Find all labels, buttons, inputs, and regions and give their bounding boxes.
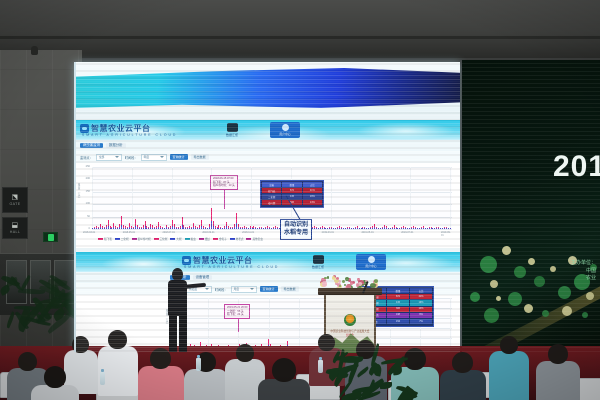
- chevron-down-icon: [250, 288, 254, 290]
- flower: [327, 276, 330, 279]
- chart-tooltip: 2018-06-15 07:00稻飞虱：87 头稻纵卷叶螟：13 头: [210, 175, 238, 190]
- cloud-glyph-icon: [313, 255, 324, 264]
- chart-data-spike: [351, 228, 352, 229]
- flower: [342, 280, 345, 283]
- chart-legend-upper: 稻飞虱二化螟稻纵卷叶螟三化螟大螟黏虫蝼蛄金龟子地老虎其他害虫: [98, 237, 428, 241]
- gridline-vertical: [331, 167, 332, 229]
- legend-item[interactable]: 蝼蛄: [199, 237, 210, 241]
- chart-data-spike: [359, 228, 360, 229]
- filter-label-period-lower: 时间段：: [215, 287, 228, 292]
- plant-leaf: [392, 367, 402, 375]
- chart-data-spike: [339, 228, 340, 229]
- chart-data-spike: [386, 228, 387, 229]
- gridline-vertical: [208, 298, 209, 348]
- filter-label-period-upper: 时间段：: [125, 155, 138, 160]
- chart-data-spike: [327, 228, 328, 229]
- chart-data-spike: [152, 228, 153, 229]
- chart-data-spike: [448, 228, 449, 229]
- legend-label: 三化螟: [160, 237, 168, 241]
- chart-data-spike: [331, 228, 332, 229]
- bubble-graphic: [542, 310, 549, 317]
- gridline-vertical: [450, 298, 451, 348]
- chart-data-spike: [121, 225, 122, 229]
- bubble-graphic: [508, 292, 522, 306]
- chart-data-spike: [431, 228, 432, 229]
- gridline-vertical: [132, 167, 133, 229]
- chart-data-spike: [131, 228, 132, 229]
- chart-data-spike: [106, 227, 107, 229]
- chart-data-spike: [211, 221, 212, 229]
- legend-swatch: [170, 238, 175, 240]
- chart-data-spike: [314, 228, 315, 229]
- audience-head: [318, 334, 335, 351]
- legend-swatch: [213, 238, 218, 240]
- chart-ytick: 50: [76, 215, 90, 218]
- chart-data-spike: [275, 228, 276, 229]
- gridline-horizontal: [92, 217, 452, 218]
- table-cell: 41%: [410, 294, 432, 299]
- brand-lower: 智慧农业云平台: [182, 255, 253, 266]
- table-cell: 872: [282, 188, 301, 193]
- chart-data-spike: [390, 228, 391, 229]
- user-card-lower[interactable]: 用户中心: [356, 254, 386, 270]
- chart-data-spike: [125, 228, 126, 229]
- audience-head: [72, 336, 89, 353]
- chart-data-spike: [257, 228, 258, 229]
- legend-item[interactable]: 地老虎: [230, 237, 244, 241]
- chart-data-spike: [143, 228, 144, 229]
- bubble-graphic: [480, 256, 497, 273]
- chart-data-spike: [261, 228, 262, 229]
- audience-shoulders: [536, 361, 580, 400]
- water-bottle: [196, 358, 201, 371]
- chart-data-spike: [273, 228, 274, 229]
- chart-data-spike: [180, 228, 181, 229]
- chart-data-spike: [337, 228, 338, 229]
- gridline-vertical: [92, 167, 93, 229]
- bubble-graphic: [534, 276, 545, 287]
- chart-data-spike: [141, 228, 142, 229]
- security-camera-icon: [31, 46, 38, 55]
- plant-leaf: [5, 311, 15, 328]
- chart-data-spike: [215, 228, 216, 229]
- table-cell: 872: [387, 294, 409, 299]
- chart-data-spike: [117, 228, 118, 229]
- legend-item[interactable]: 金龟子: [213, 237, 227, 241]
- bubble-graphic: [558, 286, 571, 299]
- audience-shoulders: [138, 366, 184, 400]
- chevron-down-icon: [160, 156, 164, 158]
- audience-shoulders: [184, 369, 228, 400]
- audience-shoulders: [440, 370, 486, 400]
- audience-head: [452, 352, 473, 373]
- brand-title-upper: 智慧农业云平台: [91, 123, 151, 134]
- gridline-vertical: [370, 167, 371, 229]
- chart-data-spike: [343, 228, 344, 229]
- chart-xtick: 2018-09-01: [202, 231, 214, 234]
- chart-data-spike: [442, 228, 443, 229]
- chart-data-spike: [446, 228, 447, 229]
- gridline-horizontal: [178, 328, 452, 329]
- bubble-graphic: [550, 266, 556, 272]
- event-year-text: 201: [553, 152, 600, 182]
- gate-sign: ⬔ GATE: [2, 187, 28, 213]
- chart-data-spike: [394, 228, 395, 229]
- chart-data-spike: [427, 228, 428, 229]
- chart-data-spike: [207, 228, 208, 229]
- legend-label: 地老虎: [236, 237, 244, 241]
- chart-data-spike: [347, 228, 348, 229]
- chart-data-spike: [178, 228, 179, 229]
- chart-data-spike: [407, 228, 408, 229]
- water-bottle: [100, 372, 105, 385]
- legend-item[interactable]: 大螟: [170, 237, 181, 241]
- gridline-vertical: [299, 298, 300, 348]
- main-led-screen: 智慧农业云平台 SMART AGRICULTURE CLOUD 数据汇聚 用户中…: [74, 62, 460, 352]
- callout-auto-recognition: 自动识别 水稻专用: [280, 219, 312, 240]
- ceiling-seam: [0, 36, 600, 39]
- chart-data-spike: [240, 228, 241, 229]
- table-cell: 9%: [410, 313, 432, 318]
- toolbar-lower: 虫情分析 设备管理: [74, 272, 460, 283]
- plant-leaf: [36, 313, 53, 322]
- chart-data-spike: [98, 228, 99, 229]
- hall-sign-label: HALL: [10, 230, 21, 234]
- chart-data-spike: [329, 228, 330, 229]
- chart-data-spike: [349, 228, 350, 229]
- table-cell: 占比: [410, 288, 432, 293]
- chart-data-spike: [203, 228, 204, 229]
- chart-data-spike: [438, 228, 439, 229]
- query-button-lower[interactable]: 查询统计: [260, 286, 278, 292]
- chart-data-spike: [366, 228, 367, 229]
- legend-swatch: [230, 238, 235, 240]
- table-cell: 198: [387, 313, 409, 318]
- table-cell: 19%: [410, 300, 432, 305]
- chart-data-spike: [265, 228, 266, 229]
- user-card-upper[interactable]: 用户中心: [270, 122, 300, 138]
- stage-plants: [326, 352, 416, 400]
- podium-top: [318, 288, 382, 295]
- chart-data-spike: [419, 228, 420, 229]
- chart-xtick: 2018-07-01: [163, 231, 175, 234]
- chart-data-spike: [335, 228, 336, 229]
- tab-pest-monitoring[interactable]: 病虫害监测: [80, 143, 103, 148]
- chart-data-spike: [92, 228, 93, 229]
- chart-data-spike: [176, 228, 177, 229]
- audience-head: [150, 348, 171, 369]
- gridline-horizontal: [178, 338, 452, 339]
- data-hub-icon-upper[interactable]: 数据汇聚: [226, 123, 238, 137]
- chart-data-spike: [156, 228, 157, 229]
- chart-data-spike: [322, 228, 323, 229]
- filter-value-period-upper: 年度: [144, 155, 150, 159]
- table-cell: 154: [387, 319, 409, 324]
- table-cell: 7%: [410, 319, 432, 324]
- chart-data-spike: [316, 228, 317, 229]
- chart-data-spike: [119, 227, 120, 229]
- chart-data-spike: [357, 228, 358, 229]
- ceiling: [0, 0, 600, 58]
- filter-select-period-lower[interactable]: 月度: [231, 286, 257, 293]
- chart-ytick: 250: [76, 165, 90, 168]
- table-cell: 占比: [303, 182, 322, 187]
- chart-data-spike: [401, 228, 402, 229]
- chart-data-spike: [263, 228, 264, 229]
- chart-data-spike: [341, 228, 342, 229]
- plant-leaf: [340, 356, 364, 365]
- legend-item[interactable]: 其他害虫: [246, 237, 262, 241]
- chart-data-spike: [232, 228, 233, 229]
- chart-data-spike: [436, 228, 437, 229]
- gridline-horizontal: [92, 167, 452, 168]
- chart-data-spike: [244, 228, 245, 229]
- chart-data-spike: [187, 228, 188, 229]
- audience-head: [236, 344, 254, 362]
- chart-data-spike: [242, 228, 243, 229]
- legend-label: 蝼蛄: [205, 237, 210, 241]
- chart-data-spike: [364, 228, 365, 229]
- brand-title-lower: 智慧农业云平台: [193, 255, 253, 266]
- chart-data-spike: [123, 228, 124, 229]
- filter-select-site-upper[interactable]: 全部: [96, 154, 122, 161]
- chart-data-spike: [135, 226, 136, 229]
- secondary-led-screen: 201 主办单位： 中国 农业: [462, 60, 600, 352]
- chart-data-spike: [392, 228, 393, 229]
- chart-tooltip-stem: [224, 187, 225, 209]
- chart-data-spike: [382, 228, 383, 229]
- water-bottle: [318, 360, 323, 373]
- chart-data-spike: [150, 227, 151, 229]
- table-cell: 卷叶螟: [262, 200, 281, 205]
- data-hub-icon-lower[interactable]: 数据汇聚: [312, 255, 324, 269]
- chart-data-spike: [234, 227, 235, 229]
- legend-swatch: [154, 238, 159, 240]
- chart-data-spike: [413, 228, 414, 229]
- filter-select-period-upper[interactable]: 年度: [141, 154, 167, 161]
- host-organization-text: 主办单位： 中国 农业: [571, 260, 596, 283]
- chart-tooltip: 2019-05-21 20:00二化螟：56 头稻飞虱：24 头: [224, 304, 250, 319]
- chart-ytick: 200: [76, 177, 90, 180]
- table-cell: 稻飞虱: [262, 188, 281, 193]
- legend-swatch: [98, 238, 103, 240]
- callout-line-1: 自动识别: [284, 222, 308, 230]
- legend-swatch: [246, 238, 251, 240]
- chart-data-spike: [345, 228, 346, 229]
- legend-label: 稻飞虱: [104, 237, 112, 241]
- legend-swatch: [132, 238, 137, 240]
- chart-data-spike: [444, 228, 445, 229]
- chart-data-spike: [397, 228, 398, 229]
- legend-item[interactable]: 三化螟: [154, 237, 168, 241]
- table-cell: 二化螟: [262, 194, 281, 199]
- audience-head: [500, 336, 518, 354]
- chart-data-spike: [384, 227, 385, 229]
- chart-data-spike: [269, 228, 270, 229]
- chart-data-spike: [174, 227, 175, 229]
- organization-emblem-icon: [343, 313, 357, 327]
- legend-label: 金龟子: [219, 237, 227, 241]
- chart-data-spike: [158, 227, 159, 229]
- chart-data-spike: [403, 228, 404, 229]
- filter-value-site-upper: 全部: [99, 155, 105, 159]
- table-row: 稻飞虱87241%: [262, 188, 322, 193]
- chart-xtick: 2019-07-01: [401, 231, 413, 234]
- chart-tooltip-line: 2018-06-15 07:00: [213, 177, 235, 181]
- chart-data-spike: [201, 226, 202, 229]
- cloud-glyph-icon: [227, 123, 238, 132]
- chart-data-spike: [172, 226, 173, 229]
- chart-data-spike: [432, 228, 433, 229]
- chart-data-spike: [238, 227, 239, 229]
- chart-data-spike: [160, 228, 161, 229]
- export-button-lower[interactable]: 导出数据: [281, 286, 299, 292]
- chart-data-spike: [146, 228, 147, 229]
- callout-line-2: 水稻专用: [284, 230, 308, 238]
- table-cell: 415: [387, 300, 409, 305]
- data-hub-caption-upper: 数据汇聚: [226, 133, 238, 137]
- audience-head: [272, 358, 296, 382]
- audience-head: [44, 366, 66, 388]
- legend-label: 大螟: [176, 237, 181, 241]
- legend-item[interactable]: 黏虫: [185, 237, 196, 241]
- legend-item[interactable]: 稻纵卷叶螟: [132, 237, 151, 241]
- legend-item[interactable]: 稻飞虱: [98, 237, 112, 241]
- chart-data-spike: [209, 227, 210, 229]
- chart-data-spike: [267, 228, 268, 229]
- chart-xtick: 2019-09-01: [441, 231, 452, 237]
- chart-data-spike: [236, 223, 237, 229]
- flower: [322, 281, 328, 287]
- chart-data-spike: [409, 228, 410, 229]
- legend-item[interactable]: 二化螟: [115, 237, 129, 241]
- dashboard-header-upper: 智慧农业云平台 SMART AGRICULTURE CLOUD 数据汇聚 用户中…: [74, 120, 460, 140]
- chart-data-spike: [253, 228, 254, 229]
- data-hub-caption-lower: 数据汇聚: [312, 265, 324, 269]
- chart-data-spike: [411, 228, 412, 229]
- hall-sign: ⬓ HALL: [2, 217, 28, 239]
- table-cell: 14%: [410, 307, 432, 312]
- legend-label: 二化螟: [121, 237, 129, 241]
- gridline-vertical: [450, 167, 451, 229]
- presenter-leg: [179, 314, 187, 352]
- host-line-2: 中国: [571, 268, 596, 276]
- chart-data-spike: [162, 228, 163, 229]
- chart-data-spike: [378, 228, 379, 229]
- chart-data-spike: [425, 228, 426, 229]
- bubble-graphic: [562, 306, 572, 316]
- chart-data-spike: [372, 228, 373, 229]
- query-button-upper[interactable]: 查询统计: [170, 154, 188, 160]
- chart-data-spike: [355, 228, 356, 229]
- legend-swatch: [185, 238, 190, 240]
- chart-data-spike: [450, 228, 451, 229]
- gridline-horizontal: [92, 229, 452, 230]
- audience-shoulders: [489, 351, 529, 400]
- chart-data-spike: [368, 228, 369, 229]
- chart-data-spike: [113, 227, 114, 229]
- chart-data-spike: [199, 228, 200, 229]
- chart-tooltip-line: 2019-05-21 20:00: [227, 306, 247, 310]
- presenter-leg: [169, 314, 177, 352]
- table-cell: 19%: [303, 194, 322, 199]
- filter-bar-upper: 监测点： 全部 时间段： 年度 查询统计 导出数据: [74, 151, 460, 163]
- chart-data-spike: [111, 228, 112, 229]
- chart-data-spike: [102, 228, 103, 229]
- chart-xtick: 2018-03-01: [83, 231, 95, 234]
- chart-data-spike: [197, 228, 198, 229]
- chart-data-spike: [205, 228, 206, 229]
- chart-data-spike: [228, 228, 229, 229]
- toolbar-upper: 病虫害监测 数据分析: [74, 140, 460, 151]
- chart-data-spike: [94, 228, 95, 229]
- chart-xtick: 2018-11-01: [242, 231, 254, 234]
- chart-data-spike: [388, 228, 389, 229]
- chart-ytick: 150: [76, 190, 90, 193]
- legend-label: 稻纵卷叶螟: [138, 237, 151, 241]
- chart-data-spike: [104, 228, 105, 229]
- host-line-1: 主办单位：: [571, 260, 596, 268]
- gridline-vertical: [410, 167, 411, 229]
- chart-data-spike: [417, 228, 418, 229]
- plant-leaf: [373, 363, 383, 377]
- tab-data-analysis[interactable]: 数据分析: [106, 143, 126, 148]
- chart-data-spike: [115, 228, 116, 229]
- chart-data-spike: [248, 228, 249, 229]
- chart-ytick: 0: [76, 227, 90, 230]
- chart-tooltip-line: 稻纵卷叶螟：13 头: [213, 184, 235, 188]
- chart-data-spike: [362, 228, 363, 229]
- chart-data-spike: [226, 226, 227, 229]
- table-cell: 306: [387, 307, 409, 312]
- chart-data-spike: [164, 228, 165, 229]
- chart-xtick: 2018-05-01: [123, 231, 135, 234]
- brand-logo-icon: [182, 256, 191, 265]
- chart-data-spike: [374, 227, 375, 229]
- chart-data-spike: [440, 228, 441, 229]
- table-cell: 数量: [282, 182, 301, 187]
- chart-tooltip-line: 稻飞虱：24 头: [227, 313, 247, 317]
- bubble-graphic: [582, 312, 588, 318]
- exit-sign: [43, 232, 58, 242]
- chart-data-spike: [127, 228, 128, 229]
- chart-data-spike: [405, 228, 406, 229]
- chart-data-spike: [168, 228, 169, 229]
- chart-data-spike: [182, 225, 183, 229]
- export-button-upper[interactable]: 导出数据: [191, 154, 209, 160]
- chart-data-spike: [189, 228, 190, 229]
- bubble-graphic: [528, 258, 535, 265]
- audience-head: [108, 330, 127, 349]
- chart-data-spike: [195, 228, 196, 229]
- chart-data-spike: [217, 228, 218, 229]
- chart-data-spike: [166, 227, 167, 229]
- table-cell: 虫害: [262, 182, 281, 187]
- chart-data-spike: [100, 227, 101, 229]
- chart-data-spike: [370, 228, 371, 229]
- flower: [332, 276, 335, 279]
- chart-data-spike: [222, 228, 223, 229]
- chart-data-spike: [421, 228, 422, 229]
- chart-data-spike: [220, 228, 221, 229]
- chart-data-spike: [96, 228, 97, 229]
- chart-data-spike: [277, 228, 278, 229]
- brand-upper: 智慧农业云平台: [80, 123, 151, 134]
- chart-ytick: 100: [76, 202, 90, 205]
- legend-swatch: [199, 238, 204, 240]
- table-cell: 41%: [303, 188, 322, 193]
- gate-sign-label: GATE: [9, 202, 20, 206]
